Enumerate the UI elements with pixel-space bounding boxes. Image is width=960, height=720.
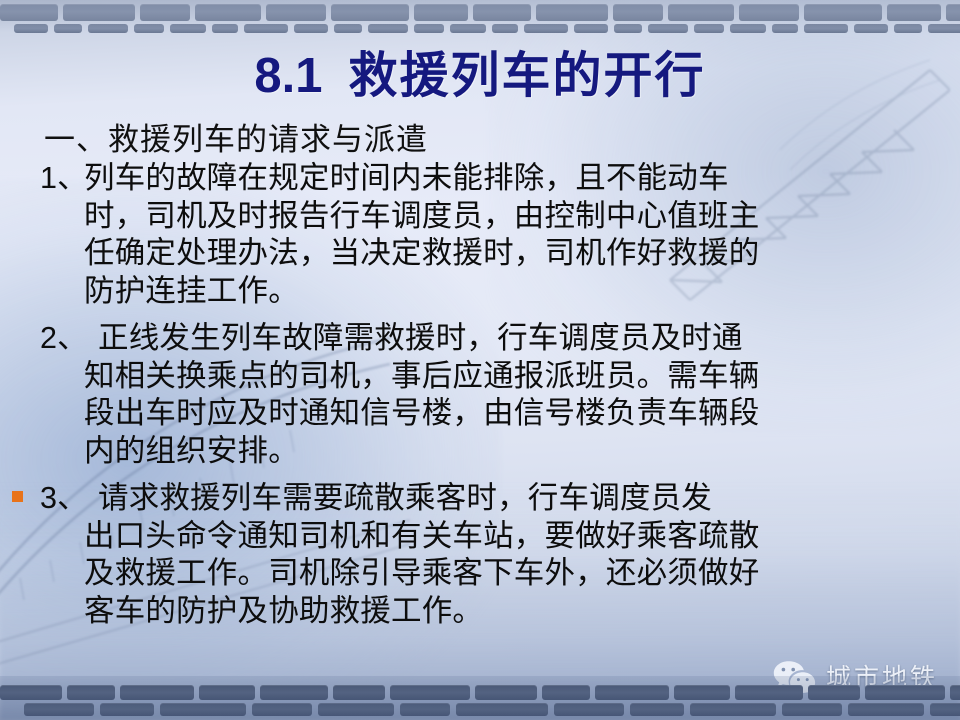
brick [473,4,531,21]
brick [244,24,288,33]
brick [739,4,799,21]
brick [318,703,394,716]
item-line: 任确定处理办法，当决定救援时，司机作好救援的 [84,235,926,273]
brick [450,24,486,33]
brick [694,24,724,33]
item-line: 及救援工作。司机除引导乘客下车外，还必须做好 [84,555,926,593]
brick [266,4,326,21]
brick [294,24,328,33]
brick [690,703,776,716]
brick [331,4,409,21]
presentation-slide: 8.1救援列车的开行 一、救援列车的请求与派遣 1、 列车的故障在规定时间内未能… [0,0,960,720]
brick [524,24,568,33]
brick [554,703,624,716]
brick [160,703,246,716]
brick [536,4,608,21]
brick [63,4,135,21]
brick [456,703,548,716]
brick [735,685,803,700]
item-line: 出口头命令通知司机和有关车站，要做好乘客疏散 [84,518,926,556]
brick [199,685,255,700]
page-title: 8.1救援列车的开行 [0,36,960,107]
list-item: 1、 列车的故障在规定时间内未能排除，且不能动车 时，司机及时报告行车调度员，由… [36,160,926,310]
brick [400,703,450,716]
brick [0,685,62,700]
brick-border-bottom [0,676,960,720]
brick-row-top-lower [0,23,960,33]
brick [865,685,945,700]
brick [212,24,238,33]
brick-row-bottom-lower [0,702,960,717]
item-marker: 1、 [40,160,84,198]
square-bullet-icon [12,491,23,502]
brick [674,685,730,700]
brick [67,685,115,700]
list-item: 2、 正线发生列车故障需救援时，行车调度员及时通 知相关换乘点的司机，事后应通报… [36,320,926,470]
brick [333,685,385,700]
brick [195,4,261,21]
brick-border-top [0,0,960,33]
brick [574,24,608,33]
brick [368,24,408,33]
item-line: 客车的防护及协助救援工作。 [84,593,926,631]
brick [648,24,688,33]
brick [88,24,128,33]
brick [0,4,58,21]
item-line: 防护连挂工作。 [84,273,926,311]
title-text: 救援列车的开行 [349,48,706,103]
brick [887,4,941,21]
brick [804,4,882,21]
section-subheading: 一、救援列车的请求与派遣 [44,114,428,159]
item-marker: 3、 [40,480,84,518]
brick [260,685,328,700]
brick [475,685,537,700]
title-number: 8.1 [254,49,322,103]
list-item: 3、 请求救援列车需要疏散乘客时，行车调度员发 出口头命令通知司机和有关车站，要… [36,480,926,630]
item-line: 列车的故障在规定时间内未能排除，且不能动车 [84,160,926,198]
item-line: 时，司机及时报告行车调度员，由控制中心值班主 [84,198,926,236]
brick [140,4,190,21]
item-lines: 正线发生列车故障需救援时，行车调度员及时通 知相关换乘点的司机，事后应通报派班员… [84,320,926,470]
item-line: 内的组织安排。 [84,433,926,471]
brick [414,24,444,33]
brick [334,24,362,33]
brick [613,4,663,21]
brick [804,24,848,33]
item-line: 知相关换乘点的司机，事后应通报派班员。需车辆 [84,358,926,396]
brick [134,24,164,33]
brick [595,685,669,700]
brick [492,24,518,33]
item-marker: 2、 [40,320,84,358]
brick [630,703,684,716]
brick [414,4,468,21]
brick [542,685,590,700]
brick [782,703,842,716]
brick [730,24,766,33]
brick [930,703,960,716]
brick-row-bottom-upper [0,684,960,701]
brick [772,24,798,33]
item-line: 请求救援列车需要疏散乘客时，行车调度员发 [84,480,926,518]
brick [614,24,642,33]
item-line: 正线发生列车故障需救援时，行车调度员及时通 [84,320,926,358]
brick [24,703,94,716]
brick [390,685,470,700]
brick [54,24,82,33]
content-list: 1、 列车的故障在规定时间内未能排除，且不能动车 时，司机及时报告行车调度员，由… [36,160,926,638]
brick [100,703,154,716]
brick [946,4,960,21]
brick [808,685,860,700]
brick [854,24,888,33]
brick [170,24,206,33]
item-lines: 列车的故障在规定时间内未能排除，且不能动车 时，司机及时报告行车调度员，由控制中… [84,160,926,310]
brick [928,24,960,33]
brick [14,24,48,33]
brick [894,24,922,33]
brick [252,703,312,716]
brick [950,685,960,700]
brick [848,703,924,716]
brick [120,685,194,700]
brick [668,4,734,21]
item-lines: 请求救援列车需要疏散乘客时，行车调度员发 出口头命令通知司机和有关车站，要做好乘… [84,480,926,630]
brick-row-top-upper [0,2,960,22]
item-line: 段出车时应及时通知信号楼，由信号楼负责车辆段 [84,395,926,433]
